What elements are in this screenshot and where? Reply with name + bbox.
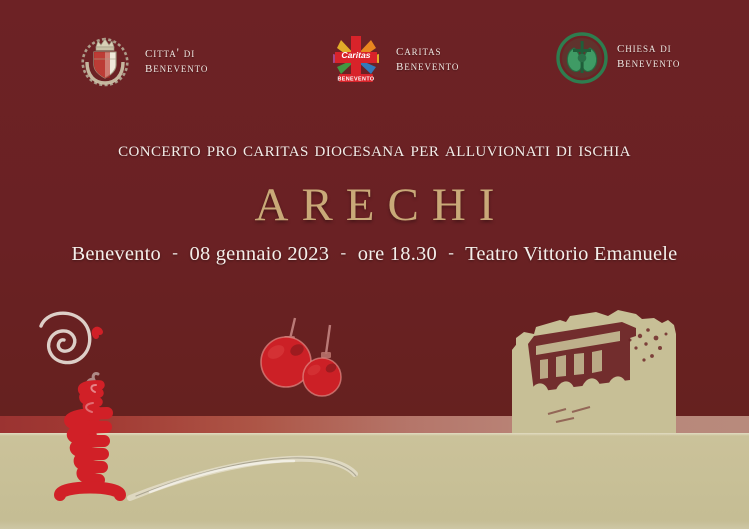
beige-band-bottom-edge: [0, 520, 749, 529]
decoration-layer: [0, 0, 749, 529]
concert-poster: Citta' di Benevento: [0, 0, 749, 529]
christmas-tree-zigzag-icon: [0, 0, 749, 529]
